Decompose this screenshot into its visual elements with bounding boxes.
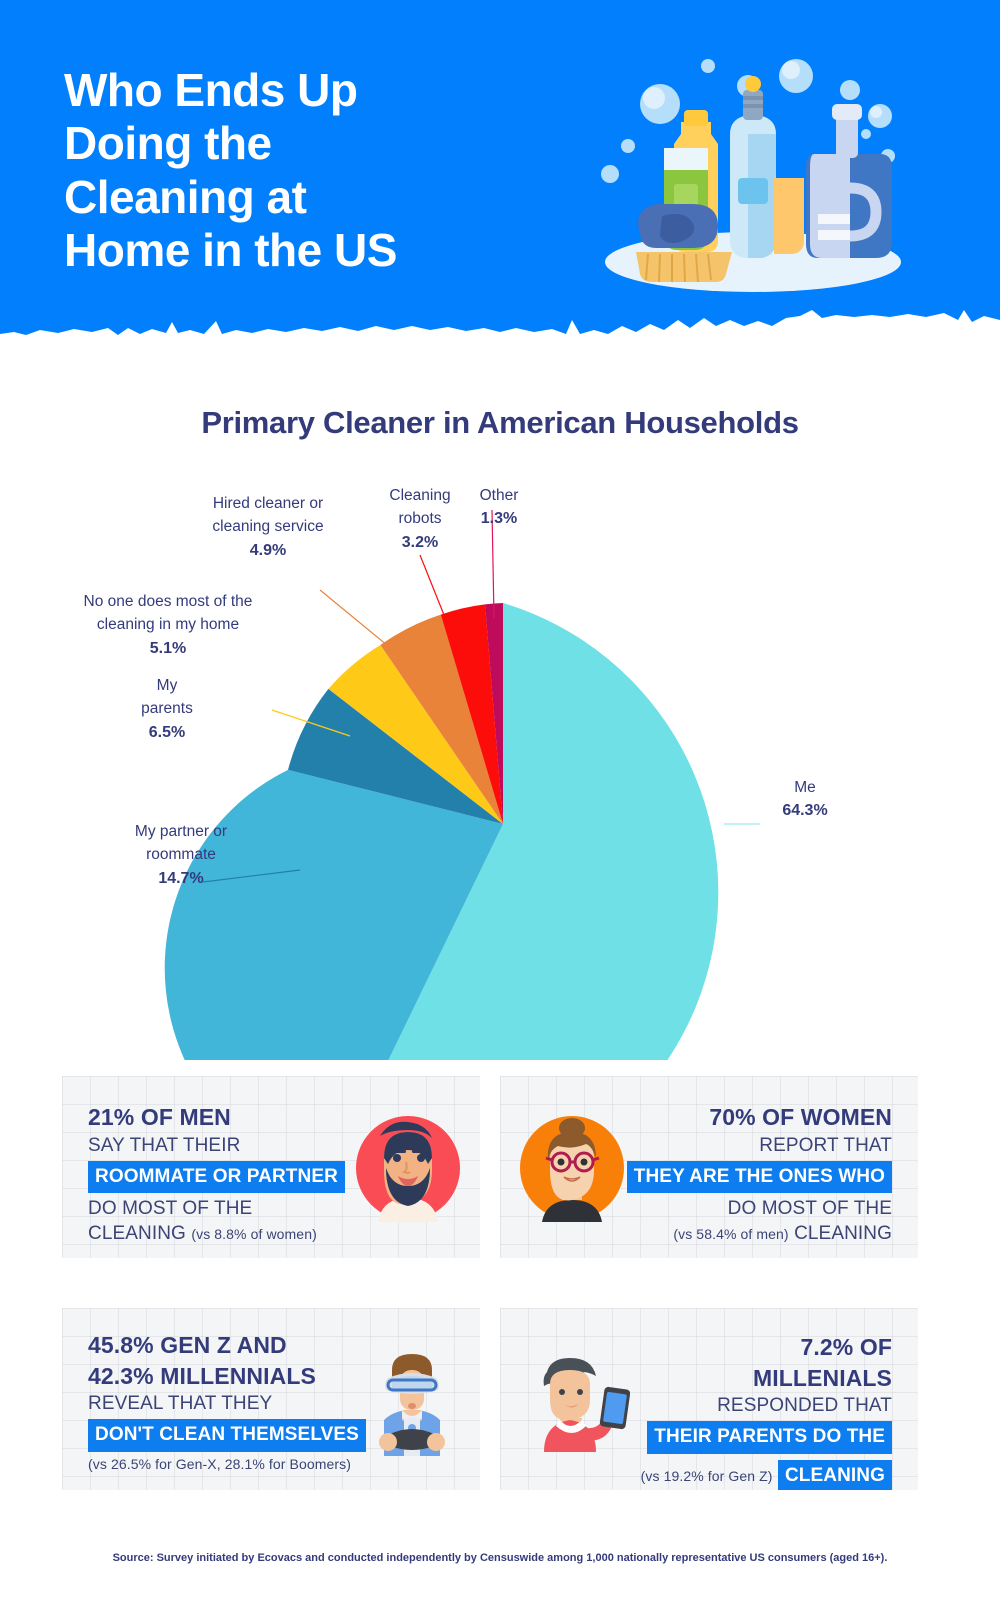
leader-line-hired — [320, 590, 410, 664]
pie-label-other: Other 1.3% — [452, 484, 546, 531]
genz-line-3: REVEAL THAT THEY — [88, 1391, 388, 1416]
pie-label-partner-value: 14.7% — [86, 867, 276, 891]
women-line-5: CLEANING — [794, 1223, 892, 1244]
pie-chart: Me 64.3% My partner or roommate 14.7% My… — [0, 450, 1000, 1060]
women-line-2: REPORT THAT — [582, 1133, 892, 1158]
pie-label-hired-line-2: cleaning service — [212, 518, 323, 535]
pie-label-parents-line-1: My — [157, 677, 178, 694]
men-stat: 21% OF MEN — [88, 1102, 388, 1133]
genz-stat-line-2: 42.3% MILLENNIALS — [88, 1361, 388, 1392]
pie-label-parents-value: 6.5% — [112, 721, 222, 745]
pie-label-partner-roommate: My partner or roommate 14.7% — [86, 820, 276, 891]
men-line-4: DO MOST OF THE — [88, 1196, 388, 1221]
pie-label-no-one-value: 5.1% — [58, 637, 278, 661]
millenials-highlight-1: THEIR PARENTS DO THE — [647, 1421, 892, 1453]
pie-label-partner-line-1: My partner or — [135, 823, 227, 840]
page-title-line-4: Home in the US — [64, 224, 584, 277]
men-highlight: ROOMMATE OR PARTNER — [88, 1161, 345, 1193]
pie-label-no-one: No one does most of the cleaning in my h… — [58, 590, 278, 661]
genz-stat-line-1: 45.8% GEN Z AND — [88, 1330, 388, 1361]
cleaning-supplies-icon — [588, 38, 918, 308]
stat-card-genz: 45.8% GEN Z AND 42.3% MILLENNIALS REVEAL… — [62, 1308, 480, 1490]
pie-label-robots-value: 3.2% — [368, 531, 472, 555]
genz-note: (vs 26.5% for Gen-X, 28.1% for Boomers) — [88, 1455, 388, 1474]
stat-card-millenials: 7.2% OF MILLENIALS RESPONDED THAT THEIR … — [500, 1308, 918, 1490]
source-note: Source: Survey initiated by Ecovacs and … — [0, 1552, 1000, 1564]
stat-cards: 21% OF MEN SAY THAT THEIR ROOMMATE OR PA… — [62, 1076, 938, 1506]
stat-card-men: 21% OF MEN SAY THAT THEIR ROOMMATE OR PA… — [62, 1076, 480, 1258]
genz-highlight: DON'T CLEAN THEMSELVES — [88, 1419, 366, 1451]
page-title: Who Ends Up Doing the Cleaning at Home i… — [64, 64, 584, 277]
pie-label-other-value: 1.3% — [452, 507, 546, 531]
page-title-line-3: Cleaning at — [64, 171, 584, 224]
bearded-man-avatar — [354, 1114, 462, 1222]
torn-paper-divider — [0, 308, 1000, 356]
millenials-note: (vs 19.2% for Gen Z) — [641, 1468, 773, 1484]
pie-label-robots-line-1: Cleaning — [389, 487, 450, 504]
pie-label-me: Me 64.3% — [735, 776, 875, 823]
pie-label-no-one-line-1: No one does most of the — [84, 593, 253, 610]
pie-label-robots-line-2: robots — [398, 510, 441, 527]
women-note: (vs 58.4% of men) — [673, 1226, 788, 1242]
stat-card-genz-text: 45.8% GEN Z AND 42.3% MILLENNIALS REVEAL… — [88, 1330, 388, 1473]
pie-label-hired-cleaner: Hired cleaner or cleaning service 4.9% — [176, 492, 360, 563]
millenials-highlight-2: CLEANING — [778, 1460, 892, 1490]
women-line-4: DO MOST OF THE — [582, 1196, 892, 1221]
men-line-2: SAY THAT THEIR — [88, 1133, 388, 1158]
pie-label-me-text: Me — [794, 779, 816, 796]
pie-chart-svg — [0, 450, 1000, 1060]
page-title-line-1: Who Ends Up — [64, 64, 584, 117]
woman-with-glasses-avatar — [518, 1114, 626, 1222]
infographic-page: Who Ends Up Doing the Cleaning at Home i… — [0, 0, 1000, 1623]
pie-label-parents: My parents 6.5% — [112, 674, 222, 745]
pie-label-parents-line-2: parents — [141, 700, 193, 717]
men-note: (vs 8.8% of women) — [191, 1226, 317, 1242]
stat-card-women-text: 70% OF WOMEN REPORT THAT THEY ARE THE ON… — [582, 1102, 892, 1247]
stat-card-women: 70% OF WOMEN REPORT THAT THEY ARE THE ON… — [500, 1076, 918, 1258]
header-banner: Who Ends Up Doing the Cleaning at Home i… — [0, 0, 1000, 356]
women-stat: 70% OF WOMEN — [582, 1102, 892, 1133]
pie-label-me-value: 64.3% — [735, 799, 875, 823]
stat-card-men-text: 21% OF MEN SAY THAT THEIR ROOMMATE OR PA… — [88, 1102, 388, 1247]
page-title-line-2: Doing the — [64, 117, 584, 170]
pie-label-other-text: Other — [480, 487, 519, 504]
men-line-5: CLEANING — [88, 1223, 186, 1244]
chart-title: Primary Cleaner in American Households — [0, 405, 1000, 441]
women-highlight: THEY ARE THE ONES WHO — [627, 1161, 892, 1193]
pie-label-partner-line-2: roommate — [146, 846, 216, 863]
man-with-phone-avatar — [522, 1344, 630, 1452]
pie-label-hired-value: 4.9% — [176, 539, 360, 563]
pie-label-hired-line-1: Hired cleaner or — [213, 495, 323, 512]
gamer-boy-avatar — [358, 1348, 466, 1456]
pie-label-no-one-line-2: cleaning in my home — [97, 616, 239, 633]
